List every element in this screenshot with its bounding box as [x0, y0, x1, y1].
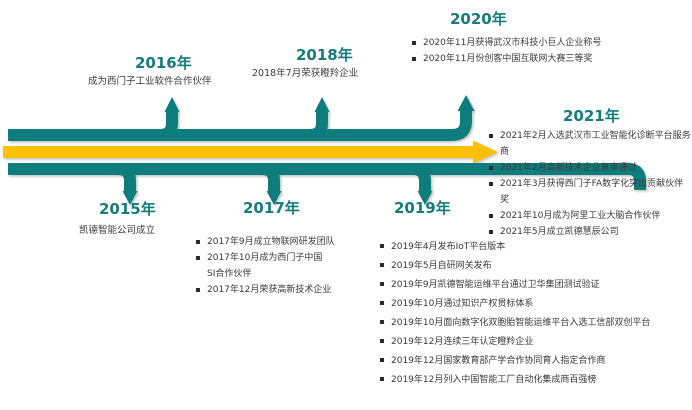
arrowhead-up-2020 [458, 95, 475, 111]
list-item: 2021年3月获得西门子FA数字化突出贡献伙伴奖 [489, 176, 692, 208]
list-item: 2021年10月成为阿里工业大脑合作伙伴 [489, 208, 692, 224]
center-rail-group [3, 141, 498, 164]
list-item: 2017年10月成为西门子中国SI合作伙伴 [196, 250, 329, 282]
list-item: 2019年4月发布IoT平台版本 [380, 238, 650, 257]
timeline-infographic: 2016年 成为西门子工业软件合作伙伴 2018年 2018年7月荣获瞪羚企业 … [0, 0, 692, 410]
year-subtitle-2018: 2018年7月荣获瞪羚企业 [252, 65, 358, 79]
list-item: 2019年9月凯德智能运维平台通过卫华集团测试验证 [380, 276, 650, 295]
arrowhead-up-2016 [165, 97, 180, 112]
year-subtitle-2016: 成为西门子工业软件合作伙伴 [88, 73, 212, 87]
year-heading-2019: 2019年 [394, 197, 451, 218]
list-item: 2019年5月自研网关发布 [380, 257, 650, 276]
bullet-list-2019: 2019年4月发布IoT平台版本 2019年5月自研网关发布 2019年9月凯德… [380, 238, 650, 390]
list-item: 2021年2月入选武汉市工业智能化诊断平台服务商 [489, 128, 692, 160]
list-item: 2017年9月成立物联网研发团队 [196, 234, 335, 250]
year-heading-2018: 2018年 [296, 44, 353, 65]
year-heading-2016: 2016年 [135, 52, 192, 73]
list-item: 2019年12月连续三年认定瞪羚企业 [380, 333, 650, 352]
list-item: 2020年11月份创客中国互联网大赛三等奖 [412, 51, 601, 67]
list-item: 2017年12月荣获高新技术企业 [196, 282, 335, 298]
list-item: 2019年12月国家教育部产学合作协同育人指定合作商 [380, 352, 650, 371]
bullet-list-2017: 2017年9月成立物联网研发团队 2017年10月成为西门子中国SI合作伙伴 2… [196, 234, 335, 298]
list-item: 2019年10月通过知识产权贯标体系 [380, 295, 650, 314]
list-item: 2019年10月面向数字化双胞胎智能运维平台入选工信部双创平台 [380, 314, 650, 333]
year-heading-2021: 2021年 [563, 105, 620, 126]
year-subtitle-2015: 凯德智能公司成立 [79, 222, 155, 236]
year-heading-2017: 2017年 [243, 197, 300, 218]
year-heading-2020: 2020年 [450, 8, 507, 29]
year-heading-2015: 2015年 [99, 198, 156, 219]
top-rail-group [2, 95, 475, 141]
bullet-list-2020: 2020年11月获得武汉市科技小巨人企业称号 2020年11月份创客中国互联网大… [412, 35, 601, 67]
arrowhead-up-2018 [315, 97, 330, 112]
bullet-list-2021: 2021年2月入选武汉市工业智能化诊断平台服务商 2021年2月高新技术企业复审… [489, 128, 692, 240]
list-item: 2021年2月高新技术企业复审通过 [489, 160, 692, 176]
list-item: 2020年11月获得武汉市科技小巨人企业称号 [412, 35, 601, 51]
list-item: 2019年12月列入中国智能工厂自动化集成商百强榜 [380, 371, 650, 390]
